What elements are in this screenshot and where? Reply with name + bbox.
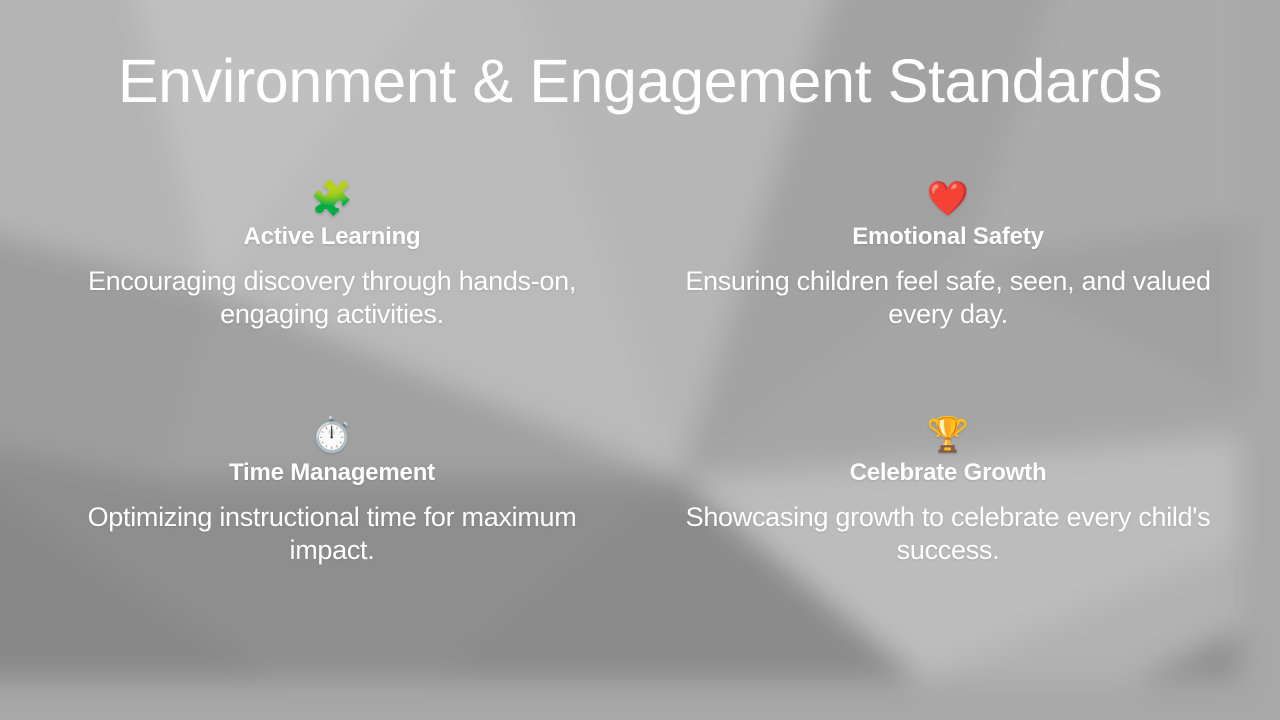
feature-card-description: Encouraging discovery through hands-on, … [54,265,610,331]
feature-card-description: Showcasing growth to celebrate every chi… [670,501,1226,567]
feature-card-grid: 🧩 Active Learning Encouraging discovery … [40,178,1240,650]
feature-card-title: Active Learning [54,222,610,252]
feature-card-active-learning: 🧩 Active Learning Encouraging discovery … [40,178,640,414]
stopwatch-icon: ⏱️ [54,414,610,456]
feature-card-emotional-safety: ❤️ Emotional Safety Ensuring children fe… [640,178,1240,414]
slide-content: Environment & Engagement Standards 🧩 Act… [0,0,1280,720]
trophy-icon: 🏆 [670,414,1226,456]
feature-card-time-management: ⏱️ Time Management Optimizing instructio… [40,414,640,650]
feature-card-title: Celebrate Growth [670,458,1226,488]
presentation-slide: Environment & Engagement Standards 🧩 Act… [0,0,1280,720]
red-heart-icon: ❤️ [670,178,1226,220]
feature-card-title: Time Management [54,458,610,488]
feature-card-celebrate-growth: 🏆 Celebrate Growth Showcasing growth to … [640,414,1240,650]
feature-card-title: Emotional Safety [670,222,1226,252]
page-title: Environment & Engagement Standards [0,48,1280,115]
puzzle-piece-icon: 🧩 [54,178,610,220]
feature-card-description: Optimizing instructional time for maximu… [54,501,610,567]
feature-card-description: Ensuring children feel safe, seen, and v… [670,265,1226,331]
